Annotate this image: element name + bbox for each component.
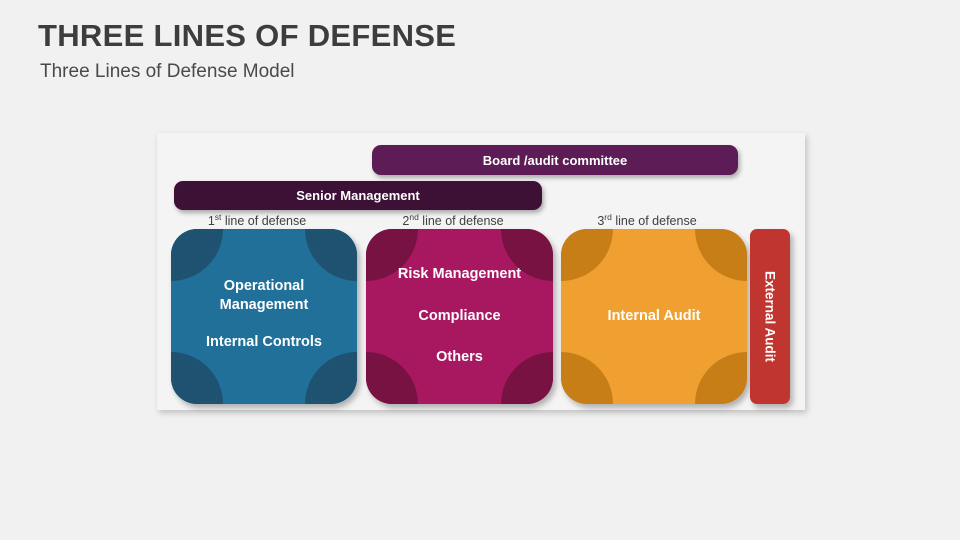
box-operational-line-2: Management <box>206 296 322 316</box>
page-title: THREE LINES OF DEFENSE <box>38 18 456 54</box>
senior-management-bar[interactable]: Senior Management <box>174 181 542 210</box>
box-operational-management[interactable]: Operational Management Internal Controls <box>171 229 357 404</box>
corner-accent-bottom-left-icon <box>171 352 223 404</box>
caption-1-rest: line of defense <box>221 214 306 228</box>
box-operational-line-1: Operational <box>206 277 322 297</box>
caption-3-rest: line of defense <box>612 214 697 228</box>
caption-first-line-of-defense: 1st line of defense <box>157 214 357 228</box>
caption-3-suffix: rd <box>604 212 612 222</box>
caption-third-line-of-defense: 3rd line of defense <box>547 214 747 228</box>
corner-accent-bottom-right-icon <box>695 352 747 404</box>
box-external-audit-label: External Audit <box>763 271 778 362</box>
senior-management-label: Senior Management <box>296 188 420 203</box>
box-internal-audit[interactable]: Internal Audit <box>561 229 747 404</box>
box-operational-line-3: Internal Controls <box>206 333 322 353</box>
caption-1-ordinal: 1 <box>208 214 215 228</box>
board-audit-committee-label: Board /audit committee <box>483 153 627 168</box>
corner-accent-bottom-left-icon <box>561 352 613 404</box>
box-external-audit[interactable]: External Audit <box>750 229 790 404</box>
box-risk-management[interactable]: Risk Management Compliance Others <box>366 229 553 404</box>
box-risk-line-3: Others <box>398 348 521 368</box>
box-internal-audit-label: Internal Audit <box>608 307 701 327</box>
corner-accent-bottom-right-icon <box>305 352 357 404</box>
board-audit-committee-bar[interactable]: Board /audit committee <box>372 145 738 175</box>
caption-second-line-of-defense: 2nd line of defense <box>353 214 553 228</box>
box-risk-line-1: Risk Management <box>398 265 521 285</box>
box-operational-spacer <box>206 316 322 333</box>
box-risk-gap-1 <box>398 285 521 307</box>
box-risk-gap-2 <box>398 326 521 348</box>
page-subtitle: Three Lines of Defense Model <box>40 61 295 83</box>
caption-2-suffix: nd <box>409 212 418 222</box>
diagram-panel: Board /audit committee Senior Management… <box>157 133 805 410</box>
caption-2-rest: line of defense <box>419 214 504 228</box>
box-risk-line-2: Compliance <box>398 307 521 327</box>
